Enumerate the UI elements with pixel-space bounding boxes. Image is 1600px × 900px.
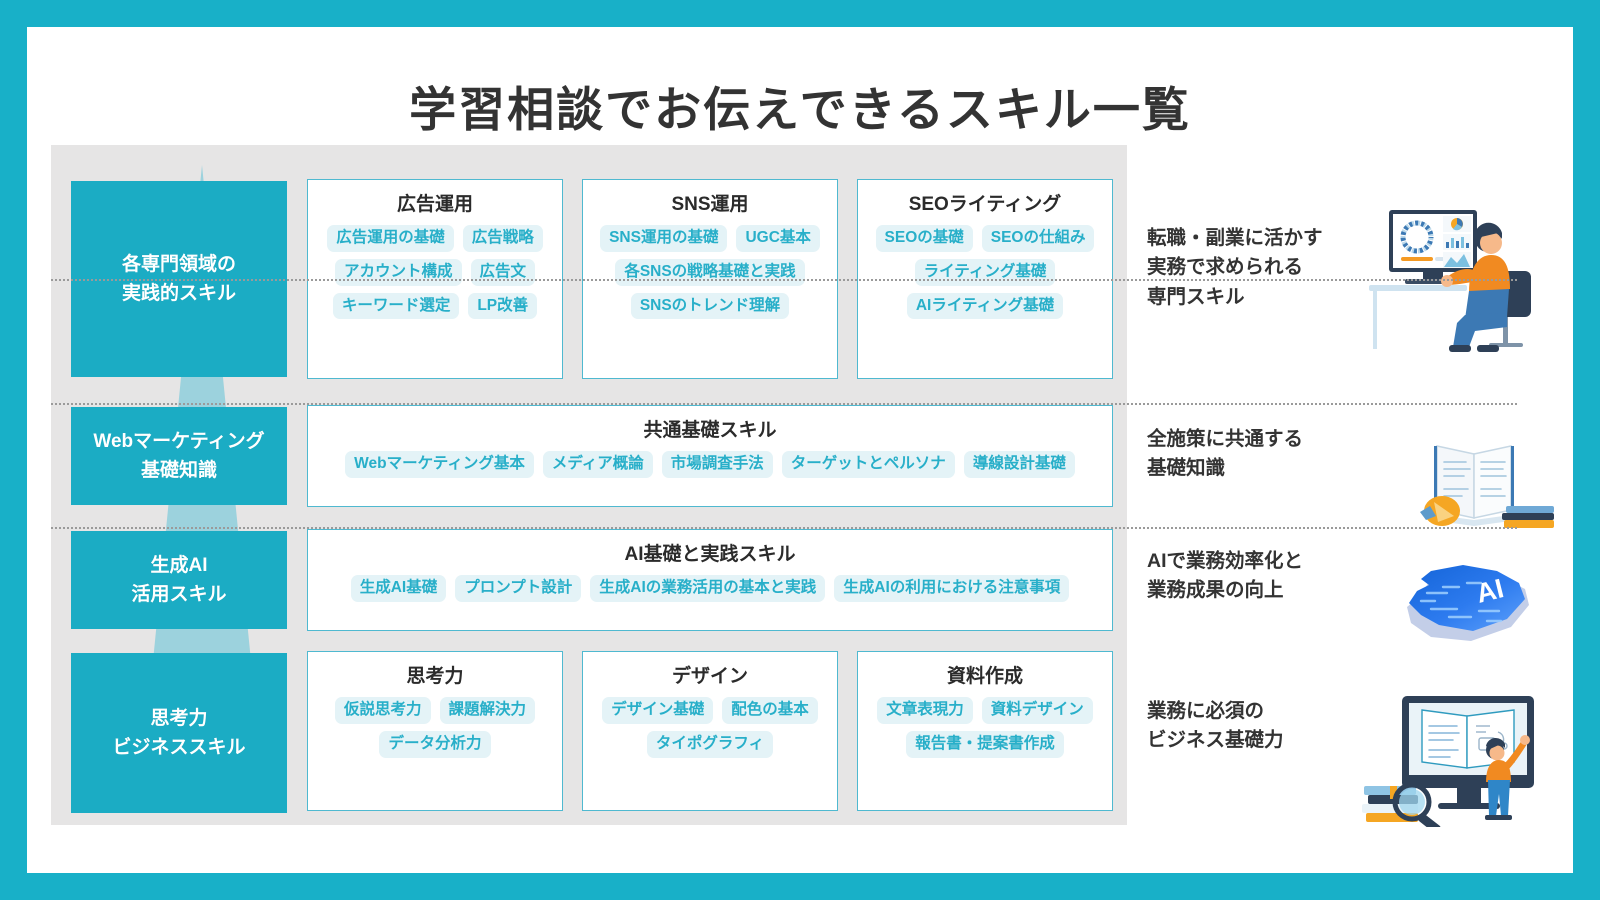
skill-tag[interactable]: メディア概論 (543, 451, 653, 478)
skill-tag[interactable]: 導線設計基礎 (964, 451, 1075, 478)
skill-tag[interactable]: ターゲットとペルソナ (782, 451, 955, 478)
skill-tag[interactable]: 広告運用の基礎 (327, 225, 454, 252)
skills-matrix-panel: 各専門領域の 実践的スキル 広告運用 広告運用の基礎 広告戦略 アカウント構成 … (51, 145, 1127, 825)
card-title: デザイン (672, 661, 748, 688)
tag-list: 仮説思考力 課題解決力 データ分析力 (308, 697, 562, 758)
row-description-webmarketing: 全施策に共通する 基礎知識 (1147, 425, 1303, 484)
card-title: 共通基礎スキル (643, 415, 776, 442)
skill-tag[interactable]: キーワード選定 (333, 293, 460, 320)
category-label: 思考力 ビジネススキル (112, 704, 245, 763)
card-title: SNS運用 (671, 189, 748, 216)
skill-tag[interactable]: 広告文 (471, 259, 536, 286)
skill-tag[interactable]: SNS運用の基礎 (600, 225, 727, 252)
skill-tag[interactable]: LP改善 (468, 293, 537, 320)
card-title: AI基礎と実践スキル (624, 539, 795, 566)
card-title: SEOライティング (909, 189, 1062, 216)
skill-tag[interactable]: アカウント構成 (335, 259, 462, 286)
skill-card-ai-basics[interactable]: AI基礎と実践スキル 生成AI基礎 プロンプト設計 生成AIの業務活用の基本と実… (307, 529, 1113, 631)
tag-list: SNS運用の基礎 UGC基本 各SNSの戦略基礎と実践 SNSのトレンド理解 (583, 225, 837, 319)
skill-tag[interactable]: 報告書・提案書作成 (906, 731, 1064, 758)
skill-tag[interactable]: SEOの基礎 (876, 225, 973, 252)
skill-tag[interactable]: 仮説思考力 (335, 697, 431, 724)
skill-tag[interactable]: 配色の基本 (722, 697, 818, 724)
category-box-webmarketing[interactable]: Webマーケティング 基礎知識 (71, 407, 287, 505)
row-description-generative-ai: AIで業務効率化と 業務成果の向上 (1147, 547, 1303, 606)
category-box-generative-ai[interactable]: 生成AI 活用スキル (71, 531, 287, 629)
skill-tag[interactable]: Webマーケティング基本 (345, 451, 534, 478)
skill-tag[interactable]: SNSのトレンド理解 (631, 293, 789, 320)
skill-tag[interactable]: デザイン基礎 (602, 697, 713, 724)
monitor-book-presenter-icon (1352, 682, 1552, 832)
skill-tag[interactable]: 文章表現力 (877, 697, 973, 724)
skill-tag[interactable]: プロンプト設計 (455, 575, 581, 602)
tag-list: 広告運用の基礎 広告戦略 アカウント構成 広告文 キーワード選定 LP改善 (308, 225, 562, 319)
card-title: 思考力 (406, 661, 463, 688)
slide-frame: 学習相談でお伝えできるスキル一覧 各専門領域の 実践的スキル 広告運用 広告運用… (27, 27, 1573, 873)
skill-tag[interactable]: 課題解決力 (440, 697, 536, 724)
tag-list: Webマーケティング基本 メディア概論 市場調査手法 ターゲットとペルソナ 導線… (308, 451, 1112, 478)
row-separator (51, 279, 1517, 281)
row-separator (51, 527, 1517, 529)
skill-tag[interactable]: 生成AIの利用における注意事項 (834, 575, 1069, 602)
ai-brain-badge-icon: AI (1387, 557, 1557, 652)
skill-tag[interactable]: 生成AI基礎 (351, 575, 447, 602)
skill-tag[interactable]: UGC基本 (736, 225, 819, 252)
category-box-thinking-business[interactable]: 思考力 ビジネススキル (71, 653, 287, 813)
open-book-lightbulb-icon (1382, 432, 1562, 537)
skill-tag[interactable]: 生成AIの業務活用の基本と実践 (590, 575, 825, 602)
skill-tag[interactable]: 広告戦略 (463, 225, 543, 252)
skill-tag[interactable]: 各SNSの戦略基礎と実践 (615, 259, 804, 286)
skill-tag[interactable]: 資料デザイン (982, 697, 1093, 724)
skill-tag[interactable]: データ分析力 (379, 731, 490, 758)
skill-card-design[interactable]: デザイン デザイン基礎 配色の基本 タイポグラフィ (582, 651, 838, 811)
tag-list: 文章表現力 資料デザイン 報告書・提案書作成 (858, 697, 1112, 758)
row-separator (51, 403, 1517, 405)
skill-tag[interactable]: タイポグラフィ (647, 731, 773, 758)
card-title: 広告運用 (397, 189, 473, 216)
skill-tag[interactable]: ライティング基礎 (915, 259, 1056, 286)
skill-tag[interactable]: 市場調査手法 (662, 451, 773, 478)
skill-tag[interactable]: AIライティング基礎 (907, 293, 1063, 320)
skill-card-document-creation[interactable]: 資料作成 文章表現力 資料デザイン 報告書・提案書作成 (857, 651, 1113, 811)
page-title: 学習相談でお伝えできるスキル一覧 (27, 71, 1573, 140)
tag-list: デザイン基礎 配色の基本 タイポグラフィ (583, 697, 837, 758)
row-description-specialized: 転職・副業に活かす 実務で求められる 専門スキル (1147, 224, 1323, 312)
tag-list: SEOの基礎 SEOの仕組み ライティング基礎 AIライティング基礎 (858, 225, 1112, 319)
category-label: 生成AI 活用スキル (131, 551, 226, 610)
skill-card-thinking[interactable]: 思考力 仮説思考力 課題解決力 データ分析力 (307, 651, 563, 811)
tag-list: 生成AI基礎 プロンプト設計 生成AIの業務活用の基本と実践 生成AIの利用にお… (308, 575, 1112, 602)
card-title: 資料作成 (947, 661, 1023, 688)
row-description-thinking-business: 業務に必須の ビジネス基礎力 (1147, 697, 1284, 756)
skill-tag[interactable]: SEOの仕組み (982, 225, 1095, 252)
category-label: Webマーケティング 基礎知識 (93, 427, 264, 486)
skill-card-common-basics[interactable]: 共通基礎スキル Webマーケティング基本 メディア概論 市場調査手法 ターゲット… (307, 405, 1113, 507)
